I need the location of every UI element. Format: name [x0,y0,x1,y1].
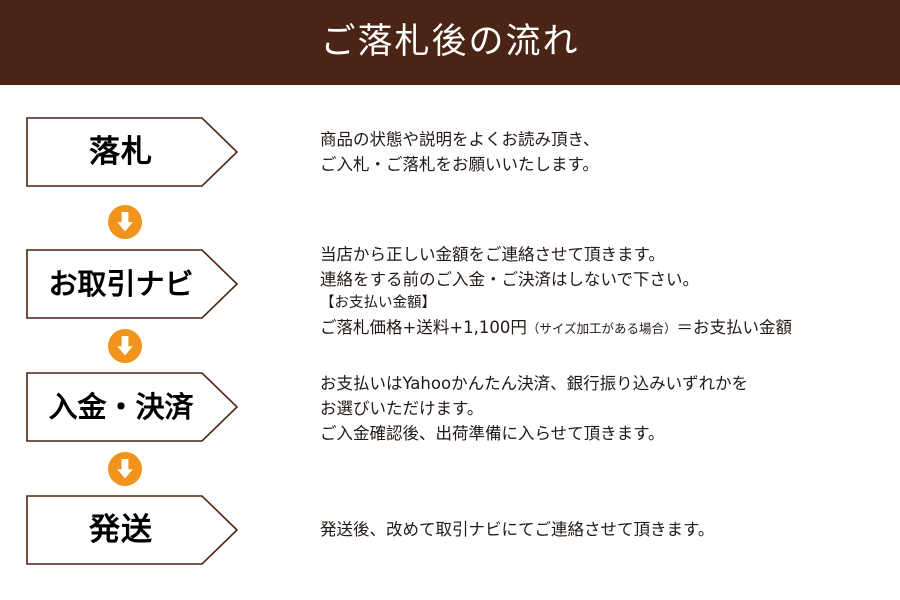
desc-line: 発送後、改めて取引ナビにてご連絡させて頂きます。 [320,517,880,542]
payment-formula: ご落札価格+送料+1,100円（サイズ加工がある場合）＝お支払い金額 [320,315,880,341]
formula-note: （サイズ加工がある場合） [527,321,677,336]
desc-line: 連絡をする前のご入金・ご決済はしないで下さい。 [320,267,880,292]
step-description-2: 当店から正しい金額をご連絡させて頂きます。 連絡をする前のご入金・ご決済はしない… [320,242,880,341]
flow-steps: 落札 商品の状態や説明をよくお読み頂き、 ご入札・ご落札をお願いいたします。 お… [0,85,900,600]
flow-step-3: 入金・決済 お支払いはYahooかんたん決済、銀行振り込みいずれかを お選びいた… [0,372,900,442]
step-label-2: お取引ナビ [26,249,216,319]
flow-step-4: 発送 発送後、改めて取引ナビにてご連絡させて頂きます。 [0,495,900,565]
formula-tail: ＝お支払い金額 [677,318,793,337]
step-chevron-4: 発送 [26,495,238,565]
flow-infographic: ご落札後の流れ 落札 商品の状態や説明をよくお読み頂き、 ご入札・ご落札をお願い… [0,0,900,600]
page-header: ご落札後の流れ [0,0,900,85]
page-title: ご落札後の流れ [320,25,579,60]
step-description-4: 発送後、改めて取引ナビにてご連絡させて頂きます。 [320,517,880,542]
step-label-3: 入金・決済 [26,372,216,442]
down-arrow-connector-2 [108,329,142,363]
desc-line: ご入札・ご落札をお願いいたします。 [320,152,880,177]
desc-line: ご入金確認後、出荷準備に入らせて頂きます。 [320,421,880,446]
down-arrow-connector-1 [108,205,142,239]
circle-down-arrow-icon [108,452,142,486]
step-label-1: 落札 [26,117,216,187]
flow-step-1: 落札 商品の状態や説明をよくお読み頂き、 ご入札・ご落札をお願いいたします。 [0,117,900,187]
desc-line-payment-heading: 【お支払い金額】 [320,292,880,315]
desc-line: お支払いはYahooかんたん決済、銀行振り込みいずれかを [320,371,880,396]
step-description-3: お支払いはYahooかんたん決済、銀行振り込みいずれかを お選びいただけます。 … [320,371,880,446]
desc-line: お選びいただけます。 [320,396,880,421]
circle-down-arrow-icon [108,205,142,239]
flow-step-2: お取引ナビ 当店から正しい金額をご連絡させて頂きます。 連絡をする前のご入金・ご… [0,249,900,319]
down-arrow-connector-3 [108,452,142,486]
step-chevron-1: 落札 [26,117,238,187]
formula-main: ご落札価格+送料+1,100円 [320,318,527,337]
step-label-4: 発送 [26,495,216,565]
desc-line: 当店から正しい金額をご連絡させて頂きます。 [320,242,880,267]
circle-down-arrow-icon [108,329,142,363]
step-description-1: 商品の状態や説明をよくお読み頂き、 ご入札・ご落札をお願いいたします。 [320,127,880,177]
step-chevron-2: お取引ナビ [26,249,238,319]
step-chevron-3: 入金・決済 [26,372,238,442]
desc-line: 商品の状態や説明をよくお読み頂き、 [320,127,880,152]
